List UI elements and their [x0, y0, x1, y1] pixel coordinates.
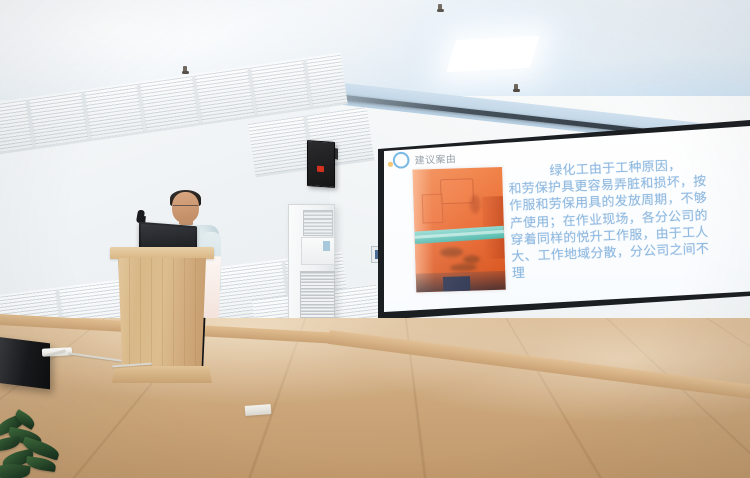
potted-plant: [0, 412, 112, 478]
slide-title: 建议案由: [414, 151, 456, 167]
projected-slide: 建议案由 绿化工由于工种原因，和劳保护具更容易弄脏和损坏，按作服和劳保用具的发放…: [384, 126, 750, 312]
plant-leaf: [0, 436, 21, 452]
wall-speaker: [307, 140, 335, 188]
meeting-room-photo: 建议案由 绿化工由于工种原因，和劳保护具更容易弄脏和损坏，按作服和劳保用具的发放…: [0, 0, 750, 478]
jacket-stain: [440, 247, 463, 257]
floor-outlet-cover: [245, 404, 272, 416]
accent-dot-icon: [388, 162, 393, 167]
lectern-body: [118, 258, 206, 368]
lectern-base: [112, 366, 212, 383]
speaker-brand-logo: [317, 166, 324, 172]
wood-grain: [118, 258, 206, 368]
slide-body-text: 绿化工由于工种原因，和劳保护具更容易弄脏和损坏，按作服和劳保用具的发放周期，不够…: [508, 153, 750, 282]
sprinkler-head: [514, 84, 518, 91]
ac-top-vent: [303, 210, 333, 236]
ac-display-icon: [323, 241, 330, 251]
slide-title-row: 建议案由: [393, 150, 457, 169]
sprinkler-head: [183, 66, 187, 73]
circle-bullet-icon: [393, 152, 410, 169]
jacket-stain: [470, 195, 481, 214]
jacket-stain: [450, 263, 477, 271]
floor-standing-air-conditioner[interactable]: [288, 204, 335, 336]
subwoofer-box: [0, 337, 50, 390]
slide-photo-work-jacket: [413, 167, 506, 292]
glasses-icon: [173, 205, 198, 211]
text-indent: [508, 175, 550, 177]
sprinkler-head: [438, 4, 442, 11]
jacket-stain: [463, 255, 480, 264]
worker-legs: [443, 276, 470, 291]
jacket-pocket: [440, 178, 474, 204]
lectern-top: [110, 247, 214, 259]
projection-screen[interactable]: 建议案由 绿化工由于工种原因，和劳保护具更容易弄脏和损坏，按作服和劳保用具的发放…: [384, 126, 750, 312]
jacket-pocket: [422, 194, 444, 224]
plant-leaf: [0, 462, 31, 478]
led-panel-light: [446, 36, 539, 72]
